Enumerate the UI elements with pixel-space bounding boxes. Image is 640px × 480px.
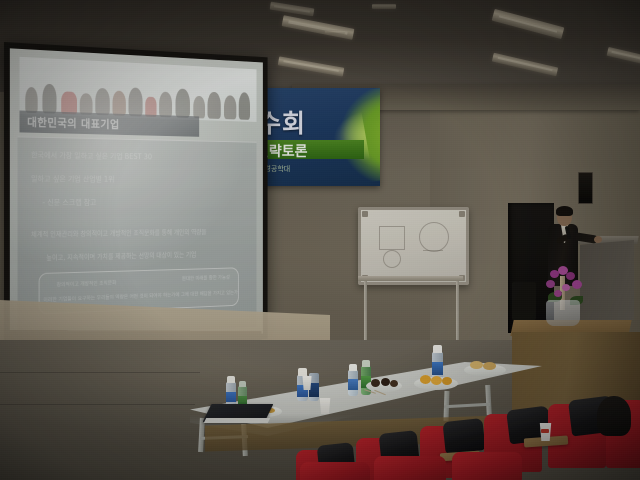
food-item bbox=[483, 362, 496, 370]
lectern bbox=[580, 240, 634, 320]
whiteboard-sketch bbox=[379, 226, 405, 250]
orchid-flower bbox=[554, 290, 562, 297]
whiteboard-sketch bbox=[423, 250, 443, 263]
bottle-cap bbox=[433, 345, 442, 353]
food-item bbox=[371, 379, 380, 387]
food-item bbox=[420, 375, 431, 384]
orchid-flower bbox=[562, 284, 570, 291]
bottle-cap bbox=[298, 368, 307, 376]
bottle-cap bbox=[362, 360, 370, 367]
whiteboard-sketch bbox=[419, 222, 449, 252]
slide-bullet: - 신문 스크랩 참고 bbox=[42, 197, 96, 208]
slide-bullet: 한국에서 가장 일하고 싶은 기업 BEST 30 bbox=[31, 149, 152, 162]
event-banner: 수회 전략토론 한경공학대 bbox=[252, 88, 380, 186]
seated-attendee bbox=[597, 396, 631, 436]
food-item bbox=[470, 361, 483, 369]
food-item bbox=[390, 380, 398, 387]
folder-page-edge bbox=[204, 418, 270, 423]
whiteboard bbox=[358, 207, 469, 285]
food-item bbox=[381, 378, 390, 386]
whiteboard-sketch bbox=[383, 250, 401, 268]
bottle-label bbox=[348, 379, 358, 390]
slide-title-text: 대한민국의 대표기업 bbox=[27, 114, 119, 132]
presenter-hair bbox=[556, 206, 573, 216]
whiteboard-leg bbox=[364, 281, 367, 347]
bottle-cap bbox=[349, 364, 357, 371]
wall-speaker bbox=[578, 172, 593, 204]
bottle-cap bbox=[239, 381, 246, 387]
presenter-hand bbox=[594, 236, 602, 243]
note-line: 이러한 기업들이 요구하는 우리들의 역량은 어떤 것이 되어야 하는가에 그에… bbox=[43, 289, 237, 303]
whiteboard-marker-tray bbox=[358, 276, 463, 281]
bottle-label bbox=[432, 362, 443, 375]
slide-paragraph: 체계적 인재관리와 창의적이고 개방적인 조직문화를 통해 개인의 역량을 bbox=[31, 227, 206, 239]
ceiling-light-icon bbox=[325, 30, 345, 34]
orchid-flower bbox=[572, 280, 582, 289]
orchid-flower bbox=[546, 280, 555, 288]
floor-seam bbox=[0, 404, 195, 405]
ceiling-light-icon bbox=[372, 4, 396, 9]
food-item bbox=[442, 377, 452, 385]
whiteboard-corner bbox=[362, 211, 368, 217]
seminar-room-photo: 수회 전략토론 한경공학대 대 bbox=[0, 0, 640, 480]
floor-seam bbox=[0, 372, 200, 373]
note-heading-right: 원대한 미래를 향한 가능성 bbox=[182, 274, 230, 282]
chair-backrest bbox=[300, 462, 370, 480]
whiteboard-leg bbox=[456, 281, 459, 343]
cup-logo bbox=[541, 429, 549, 433]
chair-backrest bbox=[452, 452, 522, 480]
bottle-cap bbox=[227, 376, 235, 383]
orchid-flower bbox=[566, 272, 575, 280]
slide-bullet: 일하고 싶은 기업 산업별 1위 bbox=[31, 173, 114, 184]
bottle-label bbox=[226, 392, 236, 402]
dark-equipment bbox=[512, 282, 536, 320]
food-item bbox=[431, 376, 442, 385]
slide-paragraph: 높이고, 지속적이며 가치를 제공하는 선망의 대상이 있는 기업 bbox=[46, 249, 196, 262]
whiteboard-corner bbox=[459, 211, 465, 217]
bouquet-wrapper bbox=[546, 300, 580, 326]
chair-backrest bbox=[374, 456, 446, 480]
chair-headrest bbox=[442, 418, 485, 454]
note-heading-left: 창의적이고 개방적인 조직문화 bbox=[57, 279, 117, 288]
